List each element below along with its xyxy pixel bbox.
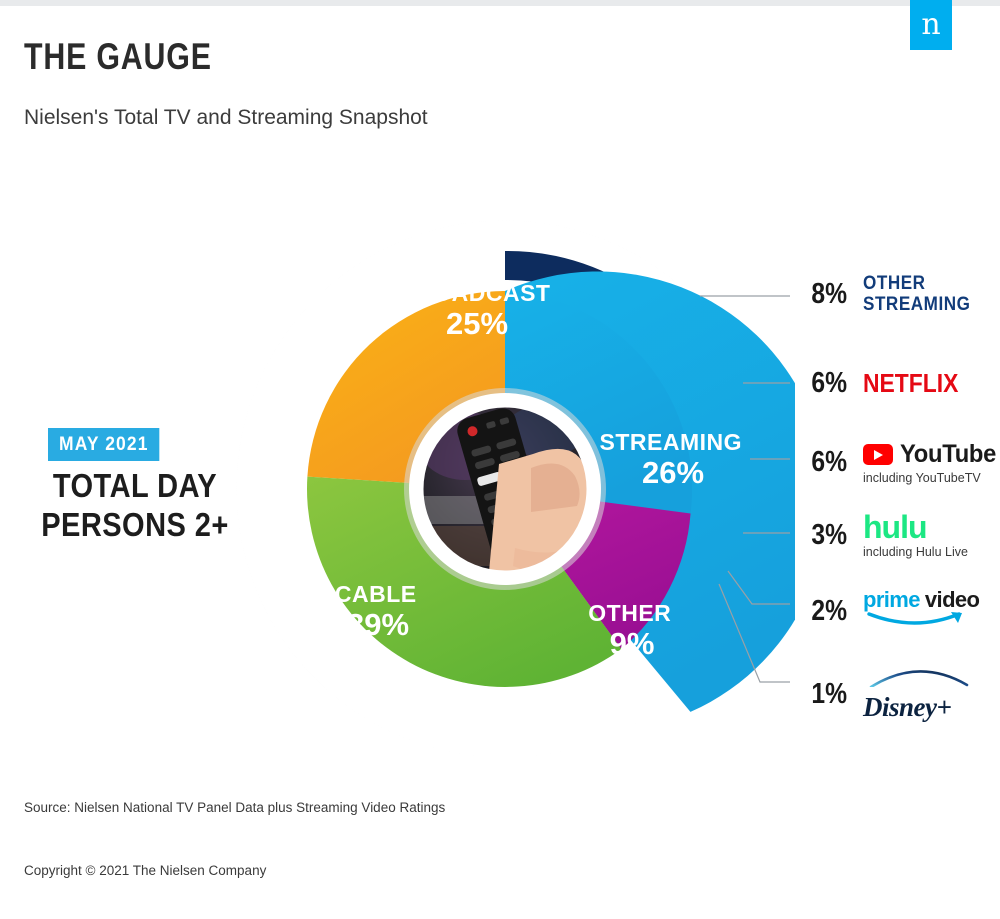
legend-percent-prime-video: 2%: [803, 595, 847, 628]
youtube-logo: YouTube including YouTubeTV: [863, 440, 1000, 485]
source-note: Source: Nielsen National TV Panel Data p…: [24, 800, 445, 815]
page-subtitle: Nielsen's Total TV and Streaming Snapsho…: [24, 106, 428, 130]
hulu-wordmark: hulu: [863, 511, 968, 543]
daypart-line-1: TOTAL DAY: [34, 466, 236, 505]
date-badge: MAY 2021: [48, 428, 160, 461]
legend-row-hulu[interactable]: 3% hulu including Hulu Live: [795, 511, 968, 559]
slice-label-other-value: 9%: [610, 626, 655, 661]
legend-percent-youtube: 6%: [803, 446, 847, 479]
copyright-note: Copyright © 2021 The Nielsen Company: [24, 863, 266, 878]
prime-video-wordmark: prime video: [863, 590, 979, 610]
page-title: THE GAUGE: [24, 36, 212, 78]
slice-label-streaming-value: 26%: [642, 455, 704, 490]
hulu-logo: hulu including Hulu Live: [863, 511, 968, 559]
slice-label-cable-name: CABLE: [335, 581, 417, 607]
slice-label-broadcast-name: BROADCAST: [399, 280, 550, 306]
prime-video-logo: prime video: [863, 590, 979, 633]
youtube-wordmark: YouTube: [900, 440, 996, 469]
disney-arc-icon: [863, 665, 975, 687]
disney-plus-wordmark: Disney+: [863, 692, 975, 723]
legend-row-disney-plus[interactable]: 1% Disney+: [795, 665, 975, 723]
legend-row-youtube[interactable]: 6% YouTube including YouTubeTV: [795, 440, 1000, 485]
slice-label-streaming-name: STREAMING: [600, 429, 743, 455]
slice-label-other-name: OTHER: [588, 600, 671, 626]
prime-word: prime: [863, 590, 920, 610]
slice-label-broadcast-value: 25%: [446, 306, 508, 341]
legend-brand-other-streaming: OTHER STREAMING: [863, 273, 982, 315]
disney-plus-logo: Disney+: [863, 665, 975, 723]
pie-chart-svg: BROADCAST 25% STREAMING 26% OTHER 9% CAB…: [215, 196, 795, 776]
slice-label-cable: CABLE 39%: [335, 581, 421, 642]
legend-percent-disney-plus: 1%: [803, 678, 847, 711]
pie-chart: BROADCAST 25% STREAMING 26% OTHER 9% CAB…: [215, 196, 795, 776]
nielsen-logo: n: [910, 0, 952, 50]
other-streaming-line-1: OTHER: [863, 273, 970, 294]
amazon-smile-icon: [863, 610, 973, 628]
daypart-line-2: PERSONS 2+: [34, 505, 236, 544]
video-word: video: [925, 590, 979, 610]
legend-percent-hulu: 3%: [803, 519, 847, 552]
other-streaming-line-2: STREAMING: [863, 294, 970, 315]
legend-percent-netflix: 6%: [803, 367, 847, 400]
nielsen-logo-letter: n: [921, 7, 940, 42]
legend-row-netflix[interactable]: 6% NETFLIX: [795, 367, 971, 400]
legend-percent-other-streaming: 8%: [803, 278, 847, 311]
legend-row-prime-video[interactable]: 2% prime video: [795, 590, 979, 633]
youtube-play-icon: [863, 444, 893, 465]
legend-row-other-streaming[interactable]: 8% OTHER STREAMING: [795, 273, 982, 315]
youtube-note: including YouTubeTV: [863, 471, 1000, 485]
hulu-note: including Hulu Live: [863, 545, 968, 559]
top-divider-strip: [0, 0, 1000, 6]
slice-label-cable-value: 39%: [347, 607, 409, 642]
youtube-logo-line: YouTube: [863, 440, 1000, 469]
netflix-logo: NETFLIX: [863, 368, 958, 399]
